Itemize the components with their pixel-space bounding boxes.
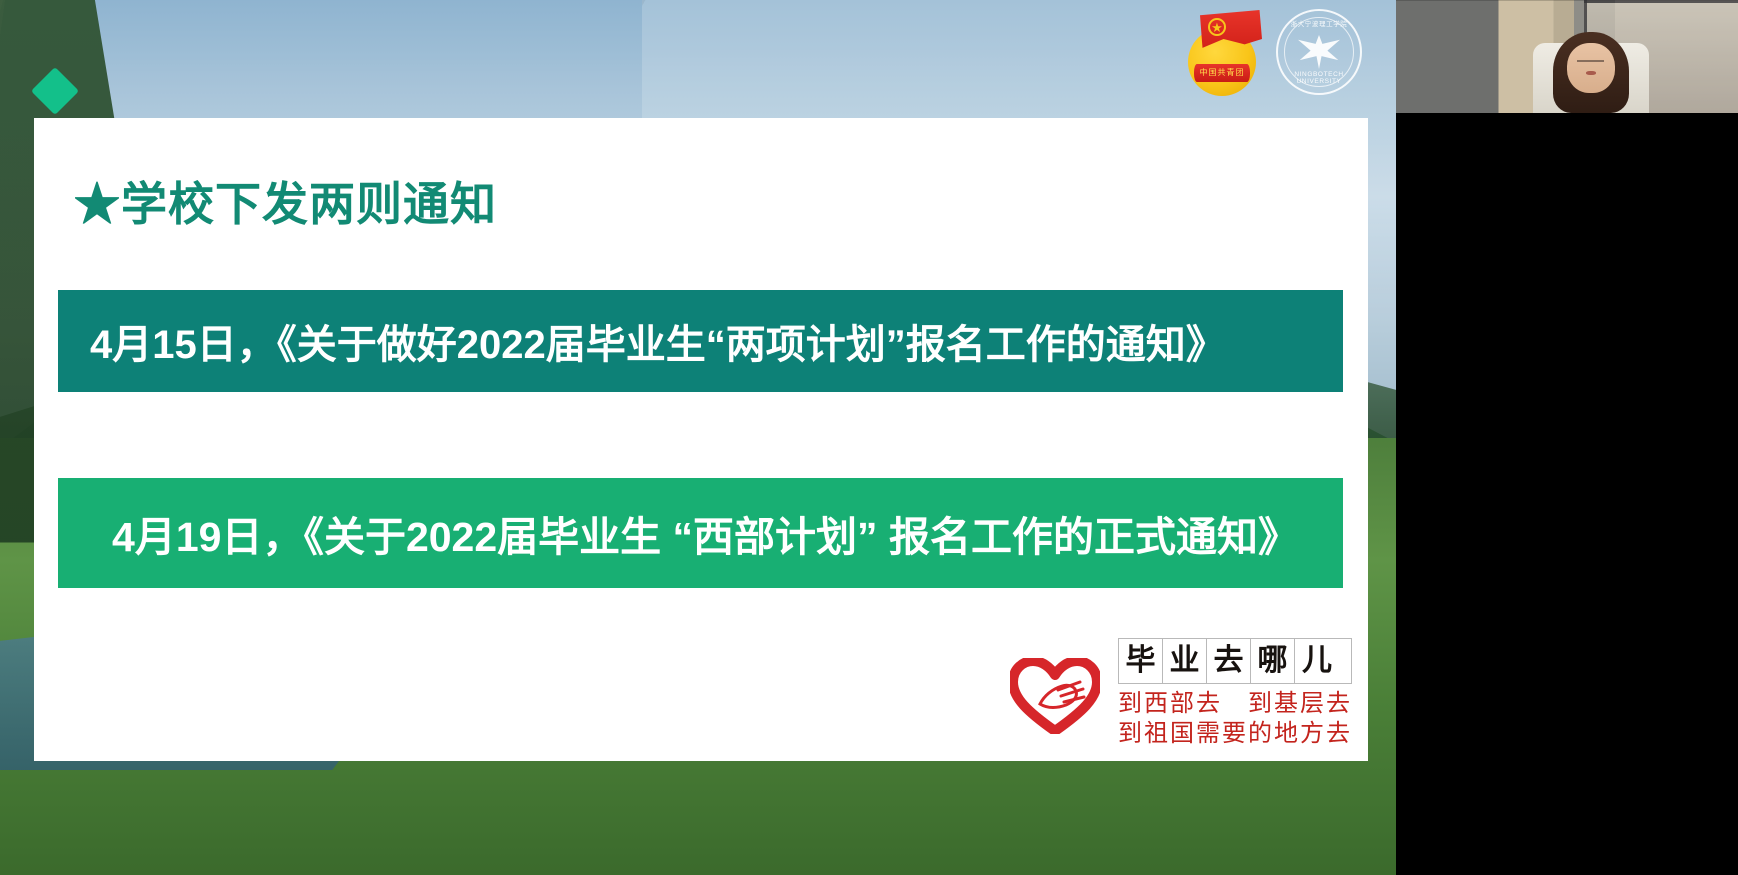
brand-char-1: 毕: [1119, 639, 1163, 683]
presenter-figure: [1553, 32, 1628, 113]
notice-banner-2: 4月19日，《关于2022届毕业生 “西部计划” 报名工作的正式通知》: [58, 478, 1343, 588]
brand-text-block: 毕 业 去 哪 儿 到西部去 到基层去 到祖国需要的地方去: [1118, 638, 1352, 749]
brand-char-4: 哪: [1251, 639, 1295, 683]
university-seal-top-text: 浙大宁波理工学院: [1278, 18, 1360, 28]
notice-banner-1: 4月15日，《关于做好2022届毕业生“两项计划”报名工作的通知》: [58, 290, 1343, 392]
youth-league-emblem-icon: ★ 中国共青团: [1182, 6, 1260, 98]
presenter-glasses-icon: [1577, 60, 1604, 65]
brand-slogan-line-2: 到祖国需要的地方去: [1118, 718, 1352, 749]
empty-video-area: [1396, 113, 1738, 875]
brand-slogan: 到西部去 到基层去 到祖国需要的地方去: [1118, 688, 1352, 749]
university-seal-bottom-text: NINGBOTECH UNIVERSITY: [1278, 71, 1360, 85]
brand-slogan-line-1: 到西部去 到基层去: [1118, 688, 1352, 719]
presenter-mouth: [1586, 71, 1596, 75]
shared-screen-pane[interactable]: ★ 中国共青团 浙大宁波理工学院 NINGBOTECH UNIVERSITY ★…: [0, 0, 1396, 875]
brand-title-grid: 毕 业 去 哪 儿: [1118, 638, 1352, 684]
video-rail[interactable]: [1396, 0, 1738, 875]
brand-char-3: 去: [1207, 639, 1251, 683]
brand-block: 毕 业 去 哪 儿 到西部去 到基层去 到祖国需要的地方去: [1010, 638, 1352, 749]
slide-title: ★学校下发两则通知: [74, 168, 497, 234]
emblem-band-text: 中国共青团: [1194, 64, 1250, 82]
presenter-face: [1567, 43, 1615, 93]
emblem-star-icon: ★: [1208, 18, 1226, 36]
university-seal-icon: 浙大宁波理工学院 NINGBOTECH UNIVERSITY: [1276, 9, 1362, 95]
brand-char-5: 儿: [1295, 639, 1339, 683]
brand-char-2: 业: [1163, 639, 1207, 683]
heart-hand-logo-icon: [1010, 652, 1102, 734]
slide-logo-row: ★ 中国共青团 浙大宁波理工学院 NINGBOTECH UNIVERSITY: [1182, 6, 1362, 98]
university-seal-bird-icon: [1298, 35, 1340, 69]
presenter-video-tile[interactable]: [1396, 0, 1738, 113]
meeting-screen: ★ 中国共青团 浙大宁波理工学院 NINGBOTECH UNIVERSITY ★…: [0, 0, 1738, 875]
heart-hand-svg: [1010, 658, 1100, 734]
slide-card: ★学校下发两则通知 4月15日，《关于做好2022届毕业生“两项计划”报名工作的…: [34, 118, 1368, 761]
